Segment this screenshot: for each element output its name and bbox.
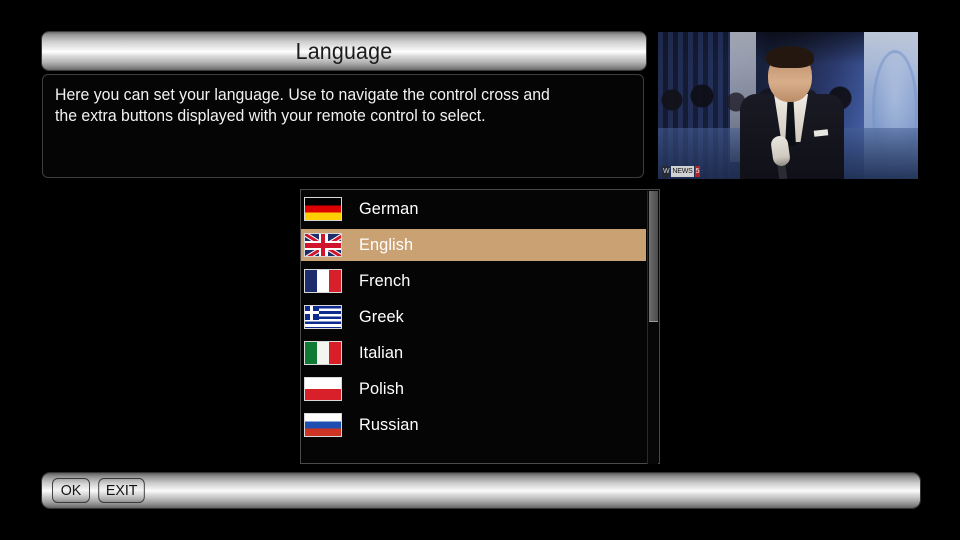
list-item-greek[interactable]: Greek xyxy=(301,301,646,333)
flag-greece-icon xyxy=(304,305,342,329)
flag-france-icon xyxy=(304,269,342,293)
title-bar: Language xyxy=(42,32,646,70)
list-item-english[interactable]: English xyxy=(301,229,646,261)
ok-button[interactable]: OK xyxy=(52,478,90,503)
channel-logo: W NEWS 5 xyxy=(662,166,700,177)
description-line-2: the extra buttons displayed with your re… xyxy=(55,106,608,127)
scrollbar-thumb[interactable] xyxy=(649,191,658,322)
list-item-label: Russian xyxy=(359,415,419,435)
list-item-russian[interactable]: Russian xyxy=(301,409,646,441)
language-list: German English French Greek xyxy=(301,193,646,445)
language-list-panel: German English French Greek xyxy=(300,189,660,464)
flag-united-kingdom-icon xyxy=(304,233,342,257)
description-line-1: Here you can set your language. Use to n… xyxy=(55,85,608,106)
list-item-label: Greek xyxy=(359,307,404,327)
flag-poland-icon xyxy=(304,377,342,401)
list-item-italian[interactable]: Italian xyxy=(301,337,646,369)
video-preview[interactable]: W NEWS 5 xyxy=(658,32,918,179)
list-item-label: German xyxy=(359,199,419,219)
tv-settings-screen: Language Here you can set your language.… xyxy=(0,0,960,540)
list-item-label: French xyxy=(359,271,410,291)
video-reporter-hair xyxy=(766,46,814,68)
list-item-german[interactable]: German xyxy=(301,193,646,225)
flag-italy-icon xyxy=(304,341,342,365)
footer-bar: OK EXIT xyxy=(42,473,920,508)
description-panel: Here you can set your language. Use to n… xyxy=(42,74,644,178)
exit-button[interactable]: EXIT xyxy=(98,478,145,503)
list-item-label: English xyxy=(359,235,413,255)
channel-logo-part2: NEWS xyxy=(671,166,693,177)
flag-germany-icon xyxy=(304,197,342,221)
list-item-label: Italian xyxy=(359,343,403,363)
flag-russia-icon xyxy=(304,413,342,437)
list-item-label: Polish xyxy=(359,379,404,399)
channel-logo-part1: W xyxy=(662,166,670,177)
scrollbar-track[interactable] xyxy=(647,191,658,464)
list-item-french[interactable]: French xyxy=(301,265,646,297)
page-title: Language xyxy=(296,38,393,65)
channel-logo-part3: 5 xyxy=(695,166,701,177)
list-item-polish[interactable]: Polish xyxy=(301,373,646,405)
